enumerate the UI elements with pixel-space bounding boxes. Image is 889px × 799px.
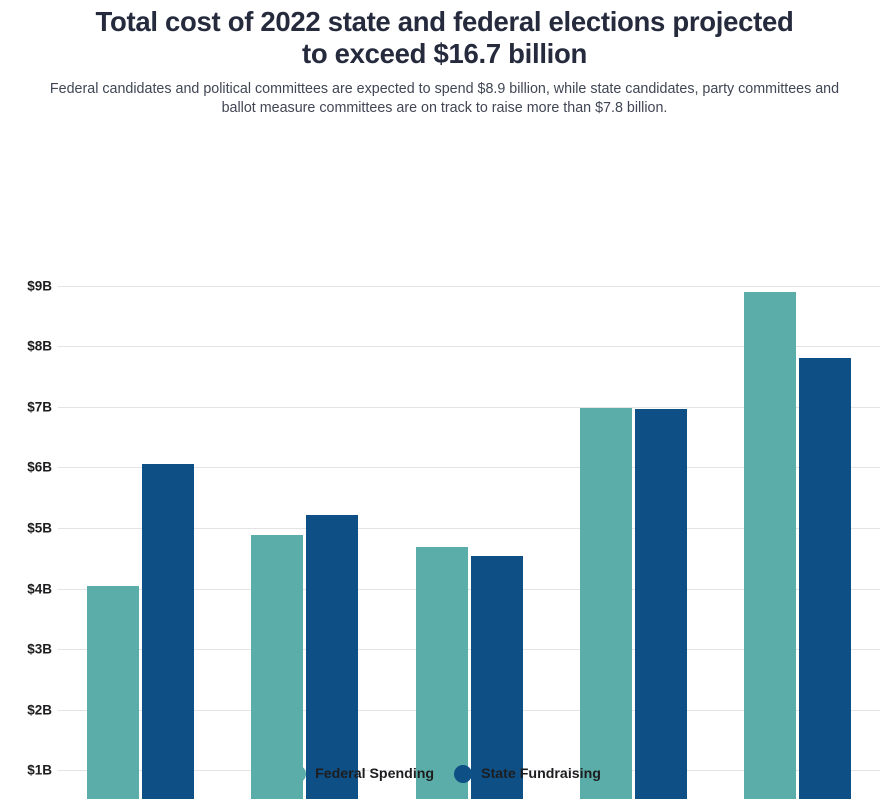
bar-2018-federal: [580, 408, 632, 799]
y-axis-tick-label: $4B: [27, 581, 52, 596]
y-axis-tick-label: $2B: [27, 702, 52, 717]
bar-2022-federal: [744, 292, 796, 799]
bar-2022-state: [799, 358, 851, 799]
bar-2010-state: [306, 515, 358, 799]
page-title: Total cost of 2022 state and federal ele…: [14, 6, 875, 70]
bar-2014-state: [471, 556, 523, 799]
legend-item-label: Federal Spending: [315, 766, 434, 782]
legend-item-federal-spending[interactable]: Federal Spending: [288, 765, 434, 783]
bar-2006-state: [142, 464, 194, 799]
y-axis-labels: $1B$2B$3B$4B$5B$6B$7B$8B$9B: [0, 128, 58, 768]
chart-figure: Total cost of 2022 state and federal ele…: [0, 0, 889, 799]
y-axis-tick-label: $3B: [27, 642, 52, 657]
chart-legend: Federal SpendingState Fundraising: [0, 765, 889, 783]
chart-subtitle: Federal candidates and political committ…: [14, 80, 875, 118]
bar-2010-federal: [251, 535, 303, 799]
legend-item-label: State Fundraising: [481, 766, 601, 782]
plot-wrapper: $1B$2B$3B$4B$5B$6B$7B$8B$9B 0 2006201020…: [0, 128, 889, 768]
circle-swatch-icon: [454, 765, 472, 783]
bars-group: [58, 128, 880, 799]
chart-header: Total cost of 2022 state and federal ele…: [0, 0, 889, 118]
y-axis-tick-label: $9B: [27, 278, 52, 293]
y-axis-tick-label: $5B: [27, 521, 52, 536]
bar-2018-state: [635, 409, 687, 799]
circle-swatch-icon: [288, 765, 306, 783]
bar-2014-federal: [416, 547, 468, 799]
y-axis-tick-label: $8B: [27, 339, 52, 354]
legend-item-state-fundraising[interactable]: State Fundraising: [454, 765, 601, 783]
y-axis-tick-label: $6B: [27, 460, 52, 475]
y-axis-tick-label: $7B: [27, 399, 52, 414]
